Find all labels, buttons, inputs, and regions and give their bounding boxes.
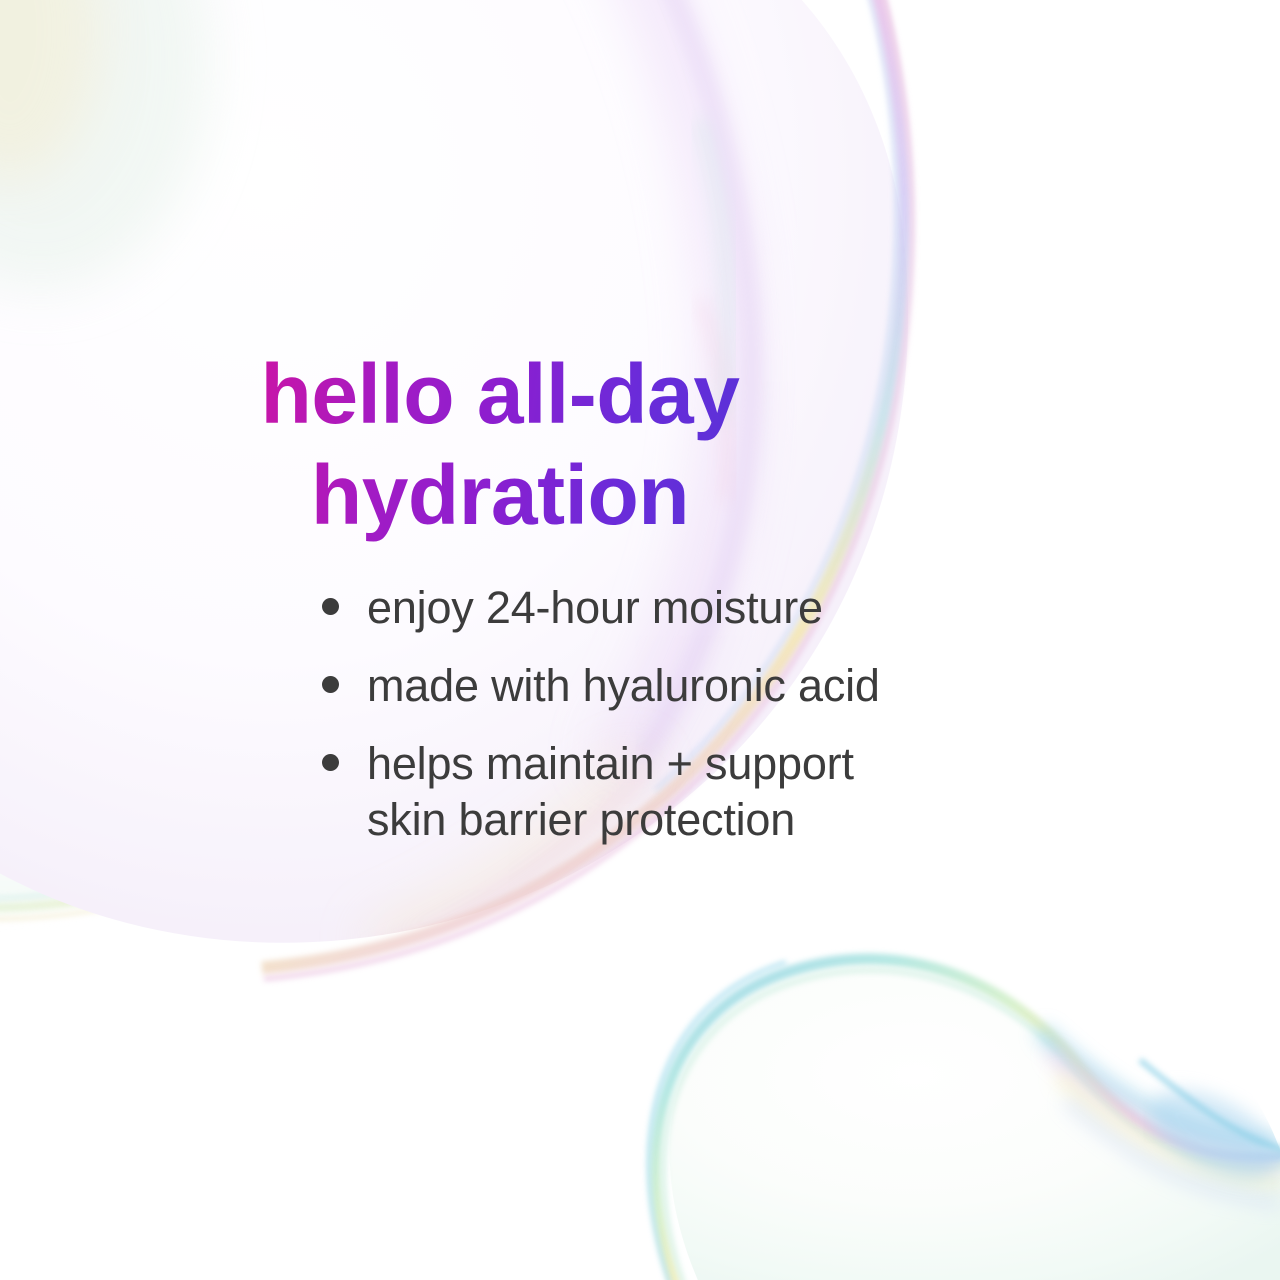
bullet-dot-icon: [322, 676, 339, 693]
benefit-text: enjoy 24-hour moisture: [367, 580, 823, 636]
list-item: enjoy 24-hour moisture: [322, 580, 1082, 636]
bullet-dot-icon: [322, 598, 339, 615]
page-title: hello all-day hydration: [0, 344, 1000, 546]
list-item: helps maintain + support skin barrier pr…: [322, 736, 1082, 848]
list-item: made with hyaluronic acid: [322, 658, 1082, 714]
benefits-list: enjoy 24-hour moisture made with hyaluro…: [322, 580, 1082, 870]
bullet-dot-icon: [322, 754, 339, 771]
benefit-text: made with hyaluronic acid: [367, 658, 880, 714]
benefit-text: helps maintain + support skin barrier pr…: [367, 736, 987, 848]
promotional-graphic: hello all-day hydration enjoy 24-hour mo…: [0, 0, 1280, 1280]
